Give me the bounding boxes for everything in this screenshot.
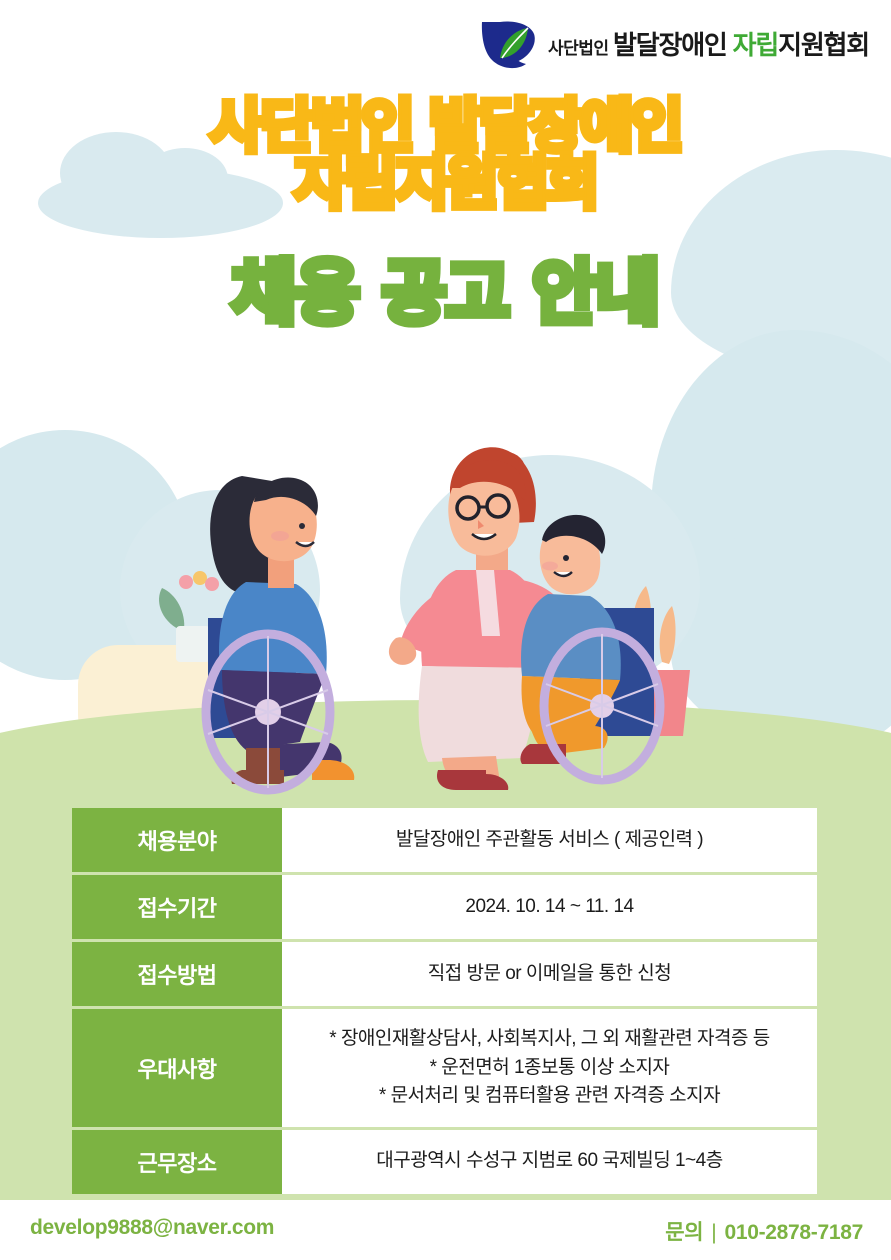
value-line: * 운전면허 1종보통 이상 소지자 bbox=[292, 1054, 807, 1083]
recruitment-info-table: 채용분야 발달장애인 주관활동 서비스 ( 제공인력 ) 접수기간 2024. … bbox=[72, 805, 817, 1197]
row-value-location: 대구광역시 수성구 지범로 60 국제빌딩 1~4층 bbox=[282, 1130, 817, 1194]
leaf-logo-icon bbox=[478, 18, 540, 72]
poster-subtitle: 채용 공고 안내 bbox=[0, 258, 891, 328]
logo-wordmark: 사단법인 발달장애인 자립지원협회 bbox=[548, 32, 869, 58]
logo-line-1: 사단법인 bbox=[548, 39, 609, 58]
table-row: 채용분야 발달장애인 주관활동 서비스 ( 제공인력 ) bbox=[72, 808, 817, 872]
title-line-2: 자립지원협회 bbox=[0, 155, 891, 212]
logo-name-accent: 자립 bbox=[733, 30, 778, 60]
value-line: * 장애인재활상담사, 사회복지사, 그 외 재활관련 자격증 등 bbox=[292, 1025, 807, 1054]
table-row: 접수방법 직접 방문 or 이메일을 통한 신청 bbox=[72, 942, 817, 1006]
row-value-period: 2024. 10. 14 ~ 11. 14 bbox=[282, 875, 817, 939]
value-line: 직접 방문 or 이메일을 통한 신청 bbox=[292, 960, 807, 989]
contact-separator: | bbox=[711, 1221, 716, 1244]
value-line: 대구광역시 수성구 지범로 60 국제빌딩 1~4층 bbox=[292, 1147, 807, 1176]
row-label-field: 채용분야 bbox=[72, 808, 282, 872]
value-line: 발달장애인 주관활동 서비스 ( 제공인력 ) bbox=[292, 826, 807, 855]
organization-logo: 사단법인 발달장애인 자립지원협회 bbox=[478, 18, 869, 72]
row-value-method: 직접 방문 or 이메일을 통한 신청 bbox=[282, 942, 817, 1006]
row-label-preferred: 우대사항 bbox=[72, 1009, 282, 1127]
logo-name-prefix: 발달장애인 bbox=[613, 30, 733, 60]
row-label-location: 근무장소 bbox=[72, 1130, 282, 1194]
value-line: 2024. 10. 14 ~ 11. 14 bbox=[292, 893, 807, 922]
three-people-wheelchair-illustration bbox=[150, 430, 750, 810]
row-value-field: 발달장애인 주관활동 서비스 ( 제공인력 ) bbox=[282, 808, 817, 872]
contact-phone[interactable]: 010-2878-7187 bbox=[724, 1221, 863, 1244]
table-row: 근무장소 대구광역시 수성구 지범로 60 국제빌딩 1~4층 bbox=[72, 1130, 817, 1194]
footer-contact: 문의|010-2878-7187 bbox=[665, 1216, 863, 1246]
figure-woman-wheelchair-left bbox=[206, 476, 354, 790]
row-label-method: 접수방법 bbox=[72, 942, 282, 1006]
row-label-period: 접수기간 bbox=[72, 875, 282, 939]
poster-title: 사단법인 발달장애인 자립지원협회 bbox=[0, 98, 891, 212]
footer-email[interactable]: develop9888@naver.com bbox=[30, 1216, 274, 1240]
table-body: 채용분야 발달장애인 주관활동 서비스 ( 제공인력 ) 접수기간 2024. … bbox=[72, 808, 817, 1194]
table-row: 접수기간 2024. 10. 14 ~ 11. 14 bbox=[72, 875, 817, 939]
title-line-1: 사단법인 발달장애인 bbox=[0, 98, 891, 155]
logo-line-2: 발달장애인 자립지원협회 bbox=[613, 30, 869, 60]
table-row: 우대사항 * 장애인재활상담사, 사회복지사, 그 외 재활관련 자격증 등 *… bbox=[72, 1009, 817, 1127]
contact-label: 문의 bbox=[665, 1221, 703, 1244]
logo-name-suffix: 지원협회 bbox=[778, 30, 869, 60]
value-line: * 문서처리 및 컴퓨터활용 관련 자격증 소지자 bbox=[292, 1082, 807, 1111]
figure-boy-wheelchair-right bbox=[520, 515, 660, 780]
recruitment-poster: 사단법인 발달장애인 자립지원협회 사단법인 발달장애인 자립지원협회 채용 공… bbox=[0, 0, 891, 1260]
row-value-preferred: * 장애인재활상담사, 사회복지사, 그 외 재활관련 자격증 등 * 운전면허… bbox=[282, 1009, 817, 1127]
